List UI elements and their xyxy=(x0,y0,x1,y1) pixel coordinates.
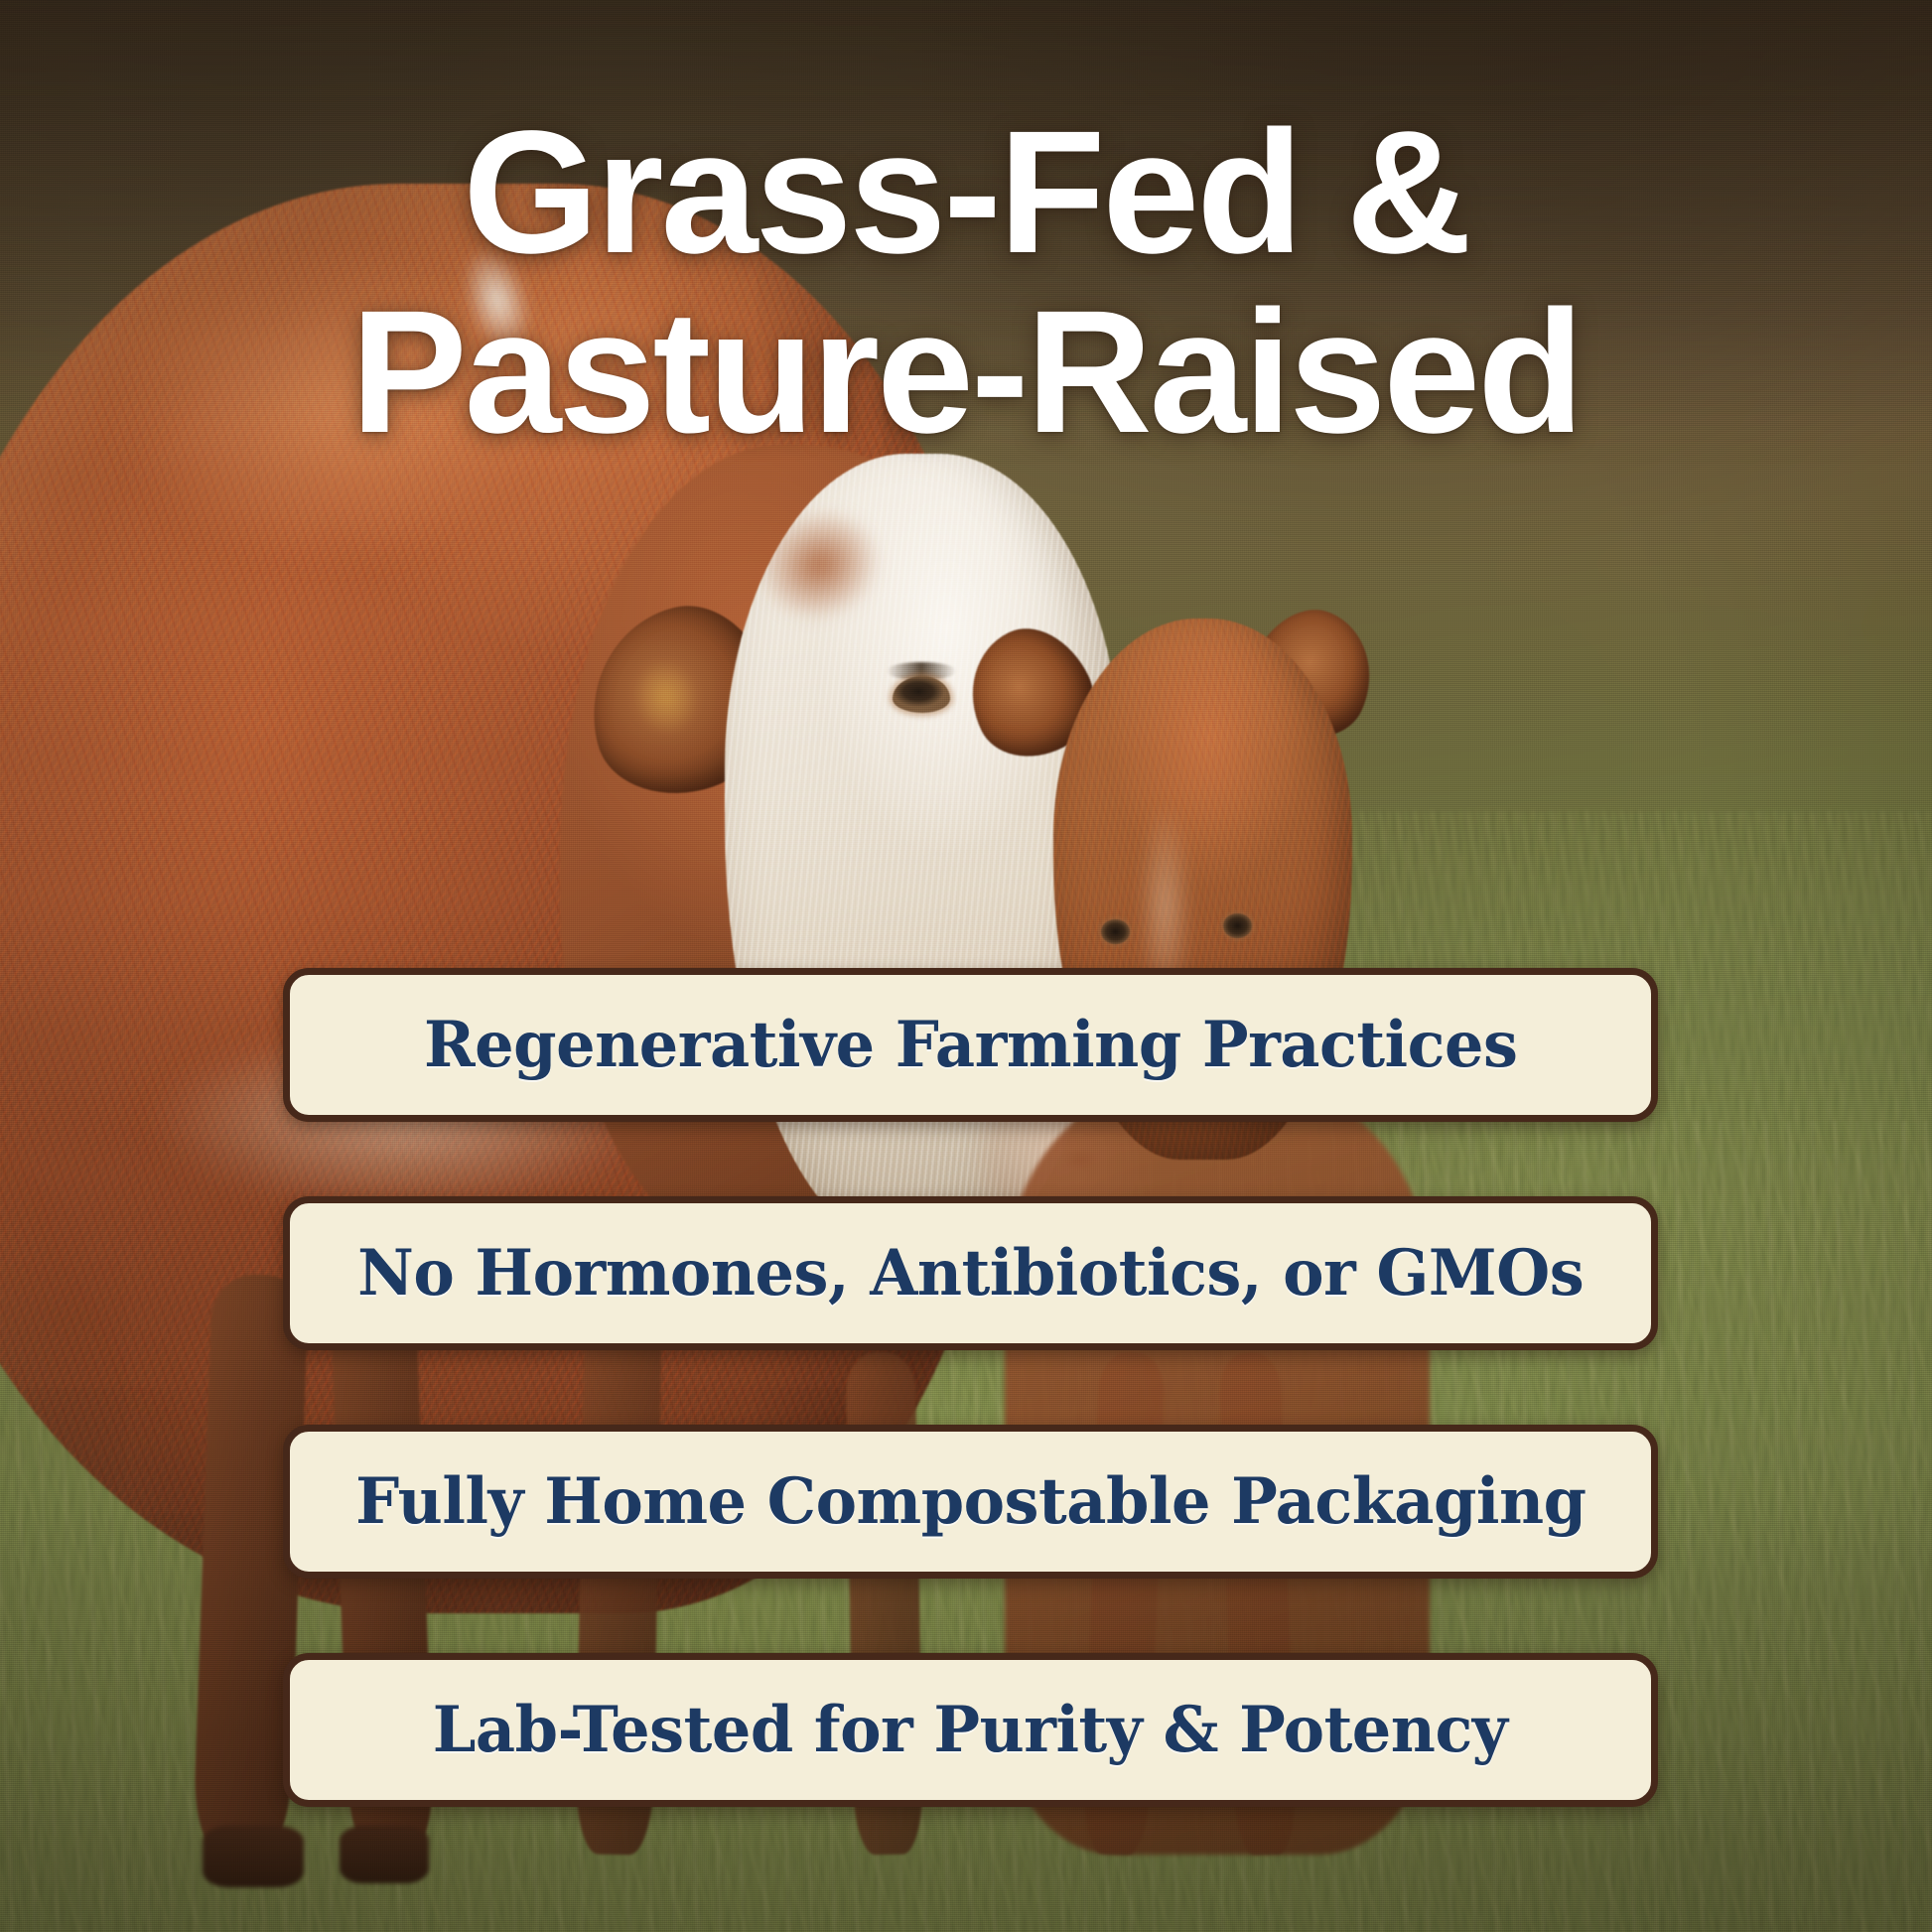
benefit-card-no-hormones: No Hormones, Antibiotics, or GMOs xyxy=(283,1196,1658,1350)
benefit-card-compostable-packaging: Fully Home Compostable Packaging xyxy=(283,1425,1658,1579)
benefit-card-label: Regenerative Farming Practices xyxy=(424,1008,1517,1082)
benefit-card-label: Lab-Tested for Purity & Potency xyxy=(433,1693,1508,1767)
benefit-card-label: Fully Home Compostable Packaging xyxy=(355,1464,1586,1539)
poster-content: Grass-Fed & Pasture-Raised Regenerative … xyxy=(0,0,1932,1932)
benefit-card-list: Regenerative Farming Practices No Hormon… xyxy=(283,968,1658,1807)
headline-line-2: Pasture-Raised xyxy=(69,283,1863,463)
page-title: Grass-Fed & Pasture-Raised xyxy=(0,103,1932,464)
benefit-card-lab-tested: Lab-Tested for Purity & Potency xyxy=(283,1653,1658,1807)
headline-line-1: Grass-Fed & xyxy=(69,103,1863,283)
benefit-card-regenerative-farming: Regenerative Farming Practices xyxy=(283,968,1658,1122)
benefit-card-label: No Hormones, Antibiotics, or GMOs xyxy=(357,1236,1584,1311)
grass-fed-pasture-raised-poster: Grass-Fed & Pasture-Raised Regenerative … xyxy=(0,0,1932,1932)
